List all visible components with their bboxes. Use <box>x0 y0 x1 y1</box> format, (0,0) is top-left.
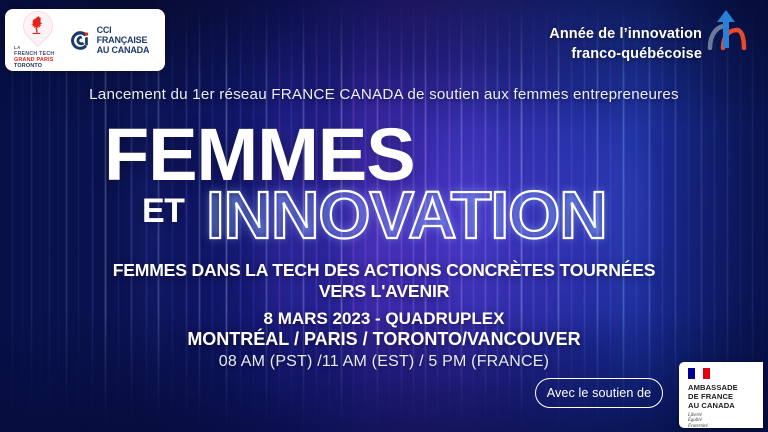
rooster-icon <box>29 15 45 35</box>
innovation-arrow-icon <box>704 8 748 50</box>
cci-logo: CCI FRANÇAISE AU CANADA <box>69 25 158 55</box>
annee-line1: Année de l’innovation <box>549 24 702 44</box>
kicker-text: Lancement du 1er réseau FRANCE CANADA de… <box>0 86 768 103</box>
cci-line1: CCI FRANÇAISE <box>97 25 158 45</box>
rooster-pin-icon <box>20 11 54 45</box>
french-tech-line4: TORONTO <box>14 63 42 70</box>
event-times: 08 AM (PST) /11 AM (EST) / 5 PM (FRANCE) <box>0 352 768 372</box>
subtitle-line1: FEMMES DANS LA TECH DES ACTIONS CONCRÈTE… <box>0 260 768 281</box>
cci-monogram-icon <box>69 28 92 53</box>
support-pill: Avec le soutien de <box>535 378 663 408</box>
embassy-logo-card: AMBASSADE DE FRANCE AU CANADA Liberté Ég… <box>679 362 763 428</box>
cci-line2: AU CANADA <box>97 45 158 55</box>
embassy-motto: Liberté Égalité Fraternité <box>688 413 763 429</box>
partner-logo-card: LA FRENCH TECH GRAND PARIS TORONTO CCI F… <box>5 9 165 71</box>
embassy-motto3: Fraternité <box>688 424 763 429</box>
subtitle-line2: VERS L'AVENIR <box>0 281 768 302</box>
annee-innovation-text: Année de l’innovation franco-québécoise <box>549 24 702 64</box>
embassy-line2: DE FRANCE <box>688 392 763 401</box>
french-tech-logo: LA FRENCH TECH GRAND PARIS TORONTO <box>12 11 63 70</box>
embassy-line3: AU CANADA <box>688 401 763 410</box>
event-banner: LA FRENCH TECH GRAND PARIS TORONTO CCI F… <box>0 0 768 432</box>
support-pill-label: Avec le soutien de <box>547 386 652 400</box>
title-et: ET <box>142 194 184 228</box>
embassy-line1: AMBASSADE <box>688 383 763 392</box>
subtitle-text: FEMMES DANS LA TECH DES ACTIONS CONCRÈTE… <box>0 260 768 302</box>
title-innovation: INNOVATION <box>206 182 607 249</box>
annee-line2: franco-québécoise <box>549 44 702 64</box>
event-cities: MONTRÉAL / PARIS / TORONTO/VANCOUVER <box>0 328 768 350</box>
event-date: 8 MARS 2023 - QUADRUPLEX <box>0 308 768 329</box>
french-flag-icon <box>688 368 710 379</box>
